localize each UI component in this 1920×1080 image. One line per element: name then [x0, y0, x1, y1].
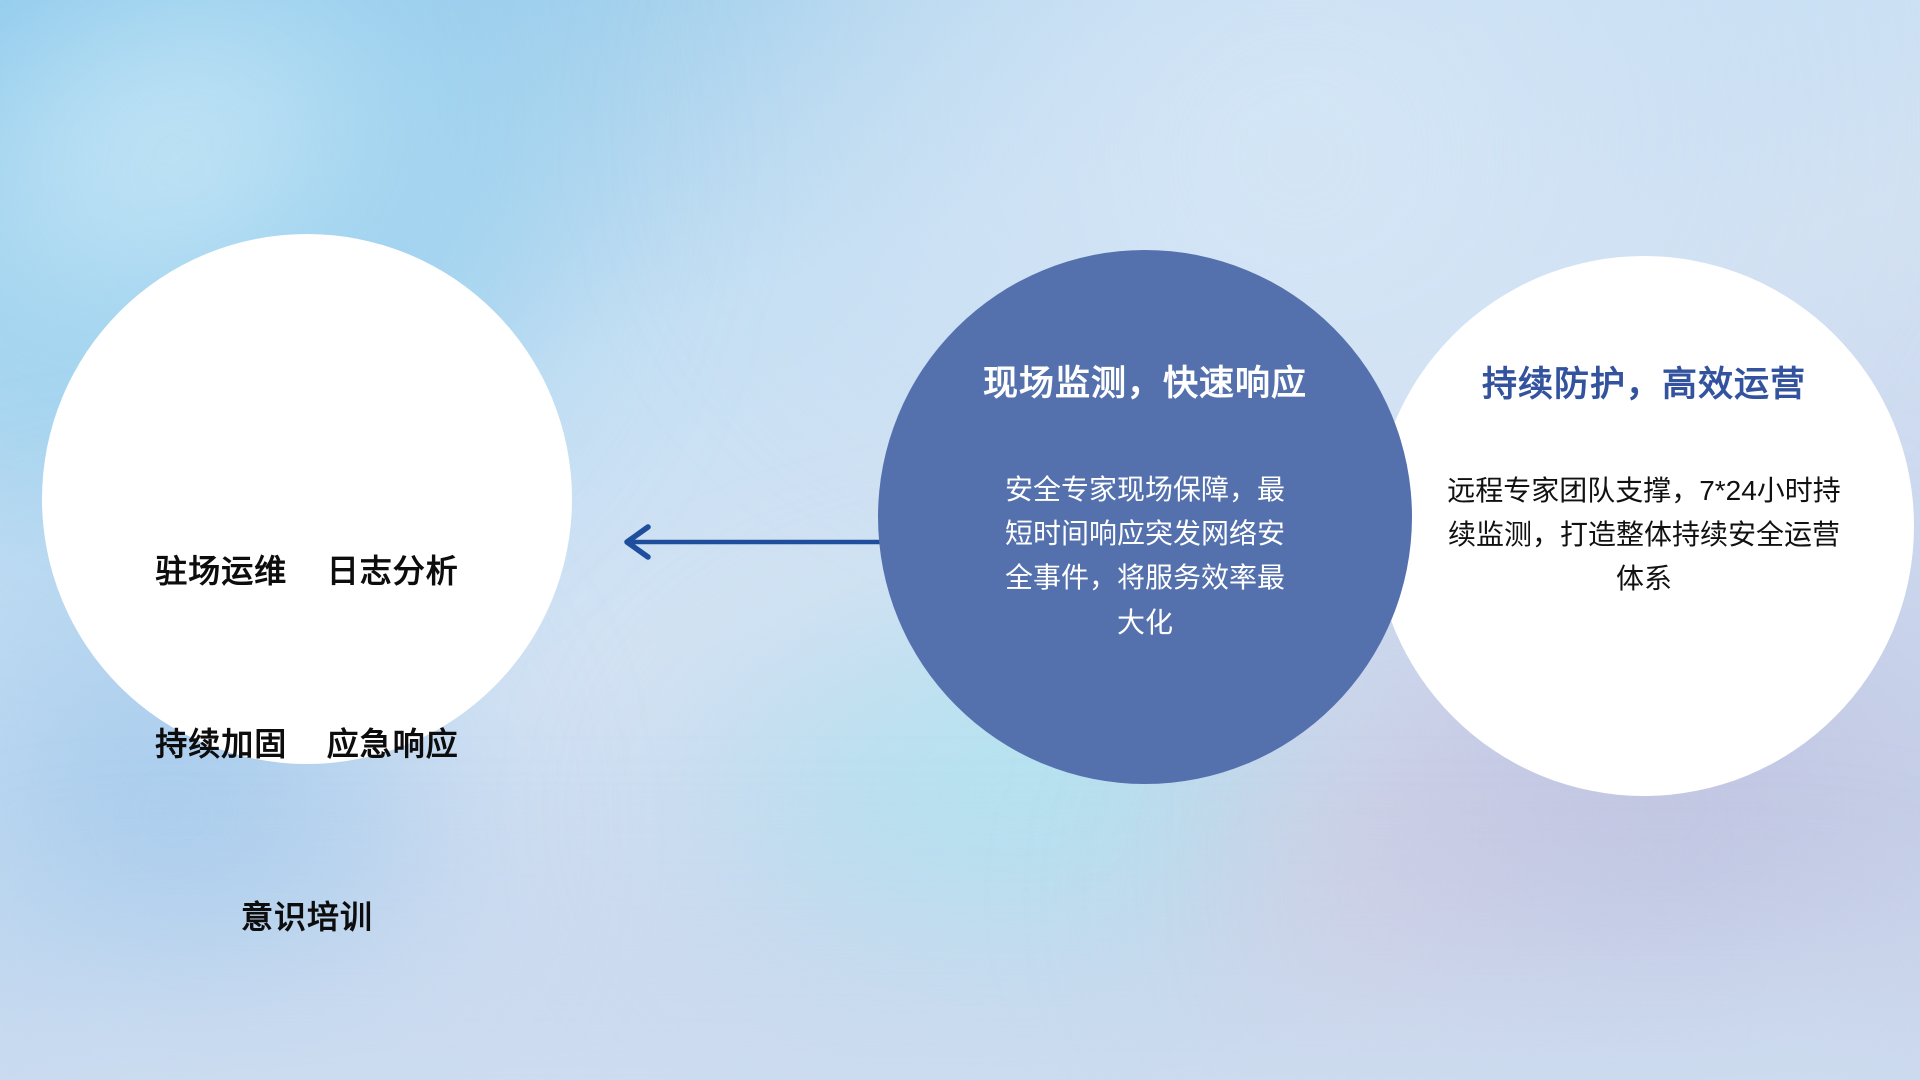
- continuous-protection-circle[interactable]: 持续防护，高效运营 远程专家团队支撑，7*24小时持续监测，打造整体持续安全运营…: [1374, 256, 1914, 796]
- flow-arrow-left: [610, 520, 890, 564]
- list-item: 持续加固 应急响应: [155, 716, 459, 774]
- service-capabilities-list: 驻场运维 日志分析 持续加固 应急响应 意识培训: [155, 428, 459, 1062]
- slide-canvas: 驻场运维 日志分析 持续加固 应急响应 意识培训 持续防护，高效运营 远程专家团…: [0, 0, 1920, 1080]
- onsite-monitoring-circle[interactable]: 现场监测，快速响应 安全专家现场保障，最短时间响应突发网络安全事件，将服务效率最…: [878, 250, 1412, 784]
- onsite-monitoring-title: 现场监测，快速响应: [983, 355, 1307, 406]
- continuous-protection-body: 远程专家团队支撑，7*24小时持续监测，打造整体持续安全运营体系: [1439, 469, 1849, 602]
- list-item: 意识培训: [155, 889, 459, 947]
- service-capabilities-circle[interactable]: 驻场运维 日志分析 持续加固 应急响应 意识培训: [42, 234, 572, 764]
- list-item: 驻场运维 日志分析: [155, 543, 459, 601]
- continuous-protection-title: 持续防护，高效运营: [1482, 356, 1806, 407]
- onsite-monitoring-body: 安全专家现场保障，最短时间响应突发网络安全事件，将服务效率最大化: [995, 468, 1295, 645]
